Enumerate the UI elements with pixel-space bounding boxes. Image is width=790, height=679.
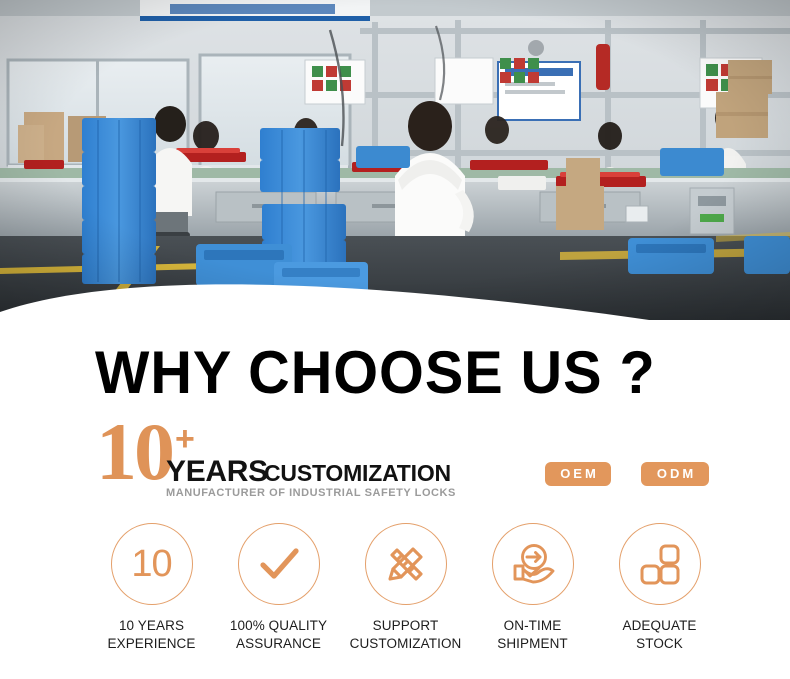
feature-caption-line1: ADEQUATE xyxy=(622,617,696,635)
feature-caption-line1: ON-TIME xyxy=(497,617,568,635)
page-title: WHY CHOOSE US ? xyxy=(95,338,656,407)
feature-caption-line2: STOCK xyxy=(622,635,696,653)
feature-caption-stock: ADEQUATE STOCK xyxy=(622,617,696,653)
pencil-ruler-icon-glyph xyxy=(381,539,431,589)
feature-caption-experience: 10 YEARS EXPERIENCE xyxy=(107,617,195,653)
factory-production-line-photo xyxy=(0,0,790,320)
experience-headline-block: 10 + YEARS CUSTOMIZATION MANUFACTURER OF… xyxy=(96,420,516,498)
factory-photo-illustration xyxy=(0,0,790,320)
oem-badge: OEM xyxy=(545,462,611,486)
manufacturer-subtitle: MANUFACTURER OF INDUSTRIAL SAFETY LOCKS xyxy=(166,488,456,499)
hand-delivery-arrow-icon-glyph xyxy=(507,538,559,590)
feature-item-shipment: ON-TIME SHIPMENT xyxy=(469,523,596,673)
feature-caption-line2: ASSURANCE xyxy=(230,635,327,653)
years-label: YEARS xyxy=(166,457,268,487)
feature-item-experience: 10 10 YEARS EXPERIENCE xyxy=(88,523,215,673)
plus-icon: + xyxy=(175,422,195,456)
feature-caption-line1: SUPPORT xyxy=(350,617,462,635)
feature-item-stock: ADEQUATE STOCK xyxy=(596,523,723,673)
checkmark-icon xyxy=(238,523,320,605)
feature-item-customization: SUPPORT CUSTOMIZATION xyxy=(342,523,469,673)
inventory-blocks-icon xyxy=(619,523,701,605)
feature-caption-quality: 100% QUALITY ASSURANCE xyxy=(230,617,327,653)
feature-caption-line2: SHIPMENT xyxy=(497,635,568,653)
feature-caption-line2: EXPERIENCE xyxy=(107,635,195,653)
feature-caption-shipment: ON-TIME SHIPMENT xyxy=(497,617,568,653)
years-number: 10 xyxy=(96,411,172,493)
pencil-ruler-icon xyxy=(365,523,447,605)
why-choose-us-banner: WHY CHOOSE US ? 10 + YEARS CUSTOMIZATION… xyxy=(0,0,790,679)
content-area: WHY CHOOSE US ? 10 + YEARS CUSTOMIZATION… xyxy=(0,320,790,679)
checkmark-icon-glyph xyxy=(254,539,304,589)
feature-caption-line1: 100% QUALITY xyxy=(230,617,327,635)
inventory-blocks-icon-glyph xyxy=(637,541,683,587)
feature-item-quality: 100% QUALITY ASSURANCE xyxy=(215,523,342,673)
customization-label: CUSTOMIZATION xyxy=(264,462,451,485)
feature-caption-line1: 10 YEARS xyxy=(107,617,195,635)
number-10-icon-text: 10 xyxy=(131,545,171,583)
feature-caption-line2: CUSTOMIZATION xyxy=(350,635,462,653)
feature-list: 10 10 YEARS EXPERIENCE 100% QUALITY ASSU… xyxy=(88,523,723,673)
hand-delivery-arrow-icon xyxy=(492,523,574,605)
feature-caption-customization: SUPPORT CUSTOMIZATION xyxy=(350,617,462,653)
odm-badge: ODM xyxy=(641,462,709,486)
number-10-icon: 10 xyxy=(111,523,193,605)
